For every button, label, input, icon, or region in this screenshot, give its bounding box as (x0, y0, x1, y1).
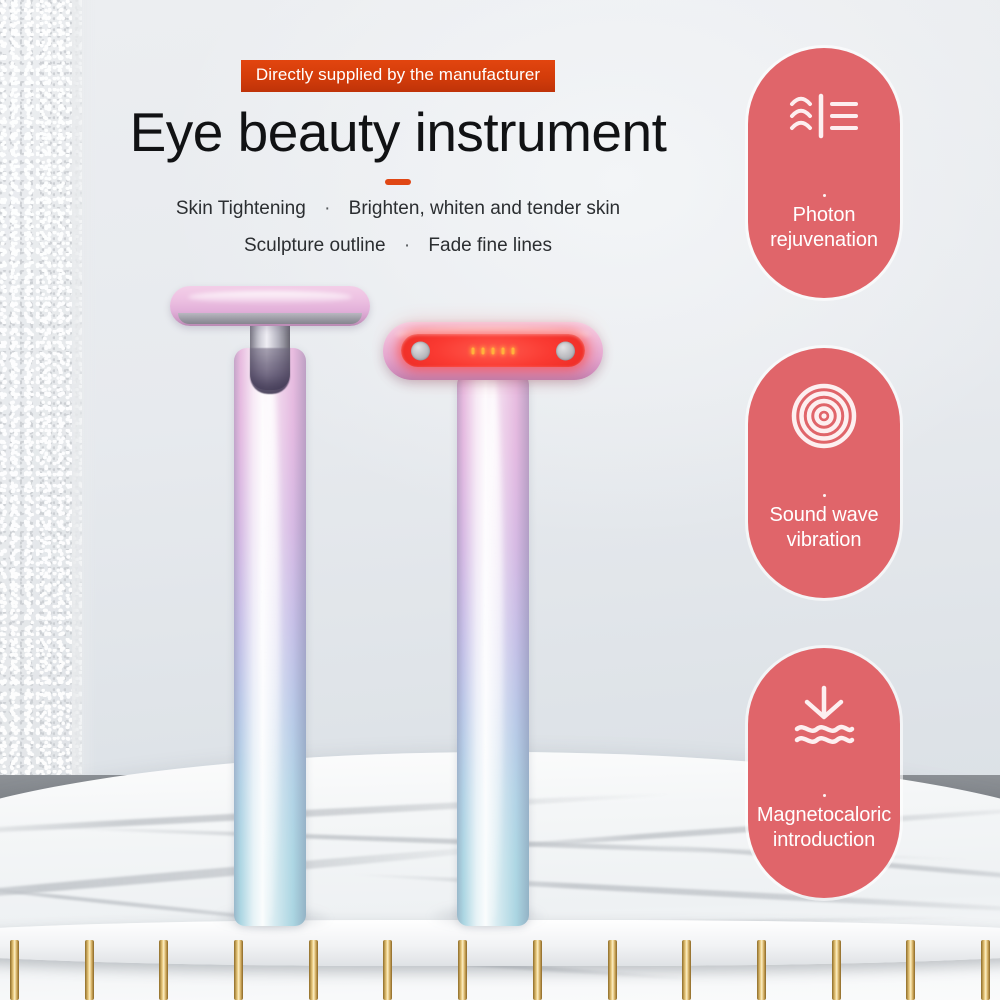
subtitle-line-2: Sculpture outline · Fade fine lines (118, 233, 678, 259)
subtitle-benefit: Fade fine lines (428, 235, 552, 256)
led-dot (502, 347, 505, 354)
table-leg (383, 940, 392, 1000)
textured-plaster-wall (0, 0, 82, 790)
page-title: Eye beauty instrument (118, 104, 678, 162)
subtitle-separator: · (311, 196, 343, 222)
badge-label-line1: Magnetocaloric (757, 803, 891, 828)
electrode-right (556, 341, 575, 360)
table-leg (608, 940, 617, 1000)
badge-label-line1: Sound wave (769, 503, 878, 528)
led-dot (492, 347, 495, 354)
title-divider-dash (385, 179, 411, 185)
subtitle-line-1: Skin Tightening · Brighten, whiten and t… (118, 196, 678, 222)
table-leg (10, 940, 19, 1000)
badge-label: Magnetocaloric introduction (751, 803, 897, 853)
table-leg (309, 940, 318, 1000)
product-banner: Directly supplied by the manufacturer Ey… (0, 0, 1000, 1000)
table-leg (906, 940, 915, 1000)
badge-separator-dot (823, 794, 826, 797)
neck-socket-shadow (250, 348, 290, 394)
table-leg (85, 940, 94, 1000)
photon-waves-lines-icon (785, 82, 863, 150)
feature-badge-photon-rejuvenation[interactable]: Photon rejuvenation (748, 48, 900, 298)
feature-badge-magnetocaloric-introduction[interactable]: Magnetocaloric introduction (748, 648, 900, 898)
subtitle-benefit: Brighten, whiten and tender skin (349, 198, 620, 219)
badge-label-line2: introduction (757, 828, 891, 853)
subtitle-separator: · (391, 233, 423, 259)
table-leg (533, 940, 542, 1000)
led-indicator-row (472, 347, 515, 354)
headline-block: Directly supplied by the manufacturer Ey… (118, 60, 678, 259)
manufacturer-ribbon: Directly supplied by the manufacturer (241, 60, 555, 92)
table-leg (458, 940, 467, 1000)
electrode-left (411, 341, 430, 360)
t-head-metal-plate (178, 313, 362, 324)
table-leg (234, 940, 243, 1000)
red-light-therapy-wand (383, 322, 603, 926)
red-light-panel (401, 334, 585, 367)
badge-label-line1: Photon (770, 203, 878, 228)
table-leg (832, 940, 841, 1000)
wand-handle (457, 372, 529, 926)
t-bar-massage-wand (170, 286, 370, 926)
table-leg (981, 940, 990, 1000)
led-dot (482, 347, 485, 354)
led-dot (512, 347, 515, 354)
badge-separator-dot (823, 194, 826, 197)
badge-label-line2: vibration (769, 528, 878, 553)
subtitle-benefit: Sculpture outline (244, 235, 386, 256)
table-leg (757, 940, 766, 1000)
table-leg (159, 940, 168, 1000)
badge-label-line2: rejuvenation (770, 228, 878, 253)
concentric-circles-icon (785, 382, 863, 450)
t-shaped-head (170, 286, 370, 326)
badge-separator-dot (823, 494, 826, 497)
led-bar-head (383, 322, 603, 380)
led-dot (472, 347, 475, 354)
feature-badge-sound-wave-vibration[interactable]: Sound wave vibration (748, 348, 900, 598)
gold-table-legs (0, 940, 1000, 1000)
table-leg (682, 940, 691, 1000)
badge-label: Photon rejuvenation (764, 203, 884, 253)
feature-badge-list: Photon rejuvenation Sound wave vibration (748, 48, 900, 948)
down-arrow-waves-icon (785, 682, 863, 750)
badge-label: Sound wave vibration (763, 503, 884, 553)
wand-handle (234, 348, 306, 926)
subtitle-benefit: Skin Tightening (176, 198, 306, 219)
